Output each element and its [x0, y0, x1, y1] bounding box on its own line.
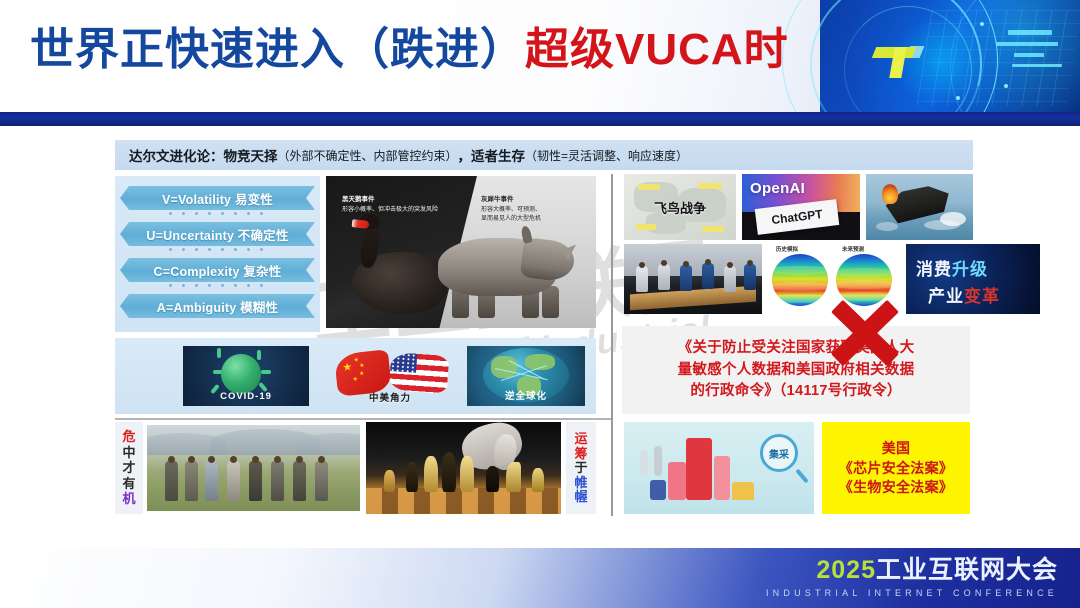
crisis-opportunity-panel: 危 中 才 有 机 [115, 422, 360, 514]
darwin-lead: 达尔文进化论： [129, 145, 224, 165]
vuca-chip-label: C=Complexity 复杂性 [120, 258, 315, 282]
right-image-grid-row-2: 历史模拟 未来预测 消费升级 产业变革 [624, 244, 973, 314]
china-us-label: 中美角力 [330, 390, 450, 404]
consume-line1-plain: 消费 [916, 260, 952, 279]
burning-ship-photo [866, 174, 973, 240]
hope-char-3: 才 [122, 461, 135, 475]
column-divider [611, 174, 613, 516]
openai-chatgpt-image: OpenAI ChatGPT [742, 174, 860, 240]
vuca-row-volatility: V=Volatility 易变性 [120, 186, 315, 216]
strategy-char-2: 筹 [574, 447, 587, 461]
footer-year: 2025 [816, 556, 876, 584]
climate-caption-right: 未来预测 [842, 245, 864, 253]
left-row-divider [115, 418, 612, 420]
red-cross-mark-icon [828, 296, 902, 370]
grey-rhino-caption: 灰犀牛事件形容大概率、可预测、 显而易见人的大型危机 [481, 186, 541, 223]
vuca-dot-connector [164, 247, 272, 252]
procurement-magnifier-icon: 集采 [760, 434, 798, 472]
strategy-char-5: 幄 [574, 490, 587, 504]
darwin-term-1: 物竞天择 [224, 145, 278, 165]
grey-rhino-heading: 灰犀牛事件 [481, 195, 541, 204]
deglobalization-card: 逆全球化 [467, 346, 585, 406]
darwin-theory-banner: 达尔文进化论：物竞天择（外部不确定性、内部管控约束），适者生存（韧性=灵活调整、… [115, 140, 973, 170]
executive-order-callout: 《关于防止受关注国家获取美国人大 量敏感个人数据和美国政府相关数据 的行政命令》… [622, 326, 970, 414]
strategy-vertical-text: 运 筹 于 帷 幄 [566, 422, 596, 514]
hope-char-2: 中 [122, 446, 135, 460]
footer-name-cn: 工业互联网大会 [876, 556, 1058, 584]
clean-room-lab-photo [624, 244, 762, 314]
consume-line-2: 产业变革 [928, 282, 1000, 307]
grey-rhino-body: 形容大概率、可预测、 显而易见人的大型危机 [481, 207, 541, 222]
conference-t-logo [872, 40, 928, 82]
order-line-3: 的行政命令》（14117号行政令） [690, 383, 901, 400]
covid-label: COVID-19 [183, 391, 309, 402]
strategy-char-1: 运 [574, 432, 587, 446]
hope-char-1: 危 [122, 430, 135, 444]
darwin-term-2: 适者生存 [471, 145, 525, 165]
covid-card: COVID-19 [183, 346, 309, 406]
bird-war-map-image: 飞鸟战争 [624, 174, 736, 240]
page-title-red: 超级VUCA时 [525, 25, 789, 74]
deglobalization-label: 逆全球化 [467, 388, 585, 402]
vuca-definitions-panel: V=Volatility 易变性 U=Uncertainty 不确定性 C=Co… [115, 176, 320, 332]
consume-line2-plain: 产业 [928, 287, 964, 306]
climate-globe-left [772, 254, 828, 306]
header-divider-bar [0, 112, 1080, 126]
vuca-row-ambiguity: A=Ambiguity 模糊性 [120, 294, 315, 324]
consumption-upgrade-image: 消费升级 产业变革 [906, 244, 1040, 314]
covid-globe-icon [221, 354, 261, 394]
black-swan-grey-rhino-image: 黑天鹅事件形容小概率、但冲击极大的突发风险 灰犀牛事件形容大概率、可预测、 显而… [326, 176, 596, 328]
page-title: 世界正快速进入（跌进）超级VUCA时 [30, 26, 789, 74]
consume-line1-accent: 升级 [952, 260, 988, 279]
strategy-char-3: 于 [574, 461, 587, 475]
vuca-chip-label: U=Uncertainty 不确定性 [120, 222, 315, 246]
conference-footer-logo: 2025工业互联网大会 INDUSTRIAL INTERNET CONFEREN… [766, 557, 1058, 598]
vuca-row-uncertainty: U=Uncertainty 不确定性 [120, 222, 315, 252]
vuca-dot-connector [164, 211, 272, 216]
consume-line-1: 消费升级 [916, 255, 988, 280]
black-swan-beak-shape [352, 219, 370, 229]
right-image-grid-row-1: 飞鸟战争 OpenAI ChatGPT [624, 174, 973, 240]
law-line-2: 《芯片安全法案》 [839, 460, 953, 477]
black-swan-body: 形容小概率、但冲击极大的突发风险 [342, 207, 438, 213]
darwin-note-2: （韧性=灵活调整、响应速度） [525, 147, 688, 164]
china-us-rivalry-card: ★ ★ ★ ★ ★ 中美角力 [330, 346, 450, 408]
hope-char-5: 机 [122, 492, 135, 506]
vuca-chip-label: A=Ambiguity 模糊性 [120, 294, 315, 318]
chess-game-photo [366, 422, 561, 514]
darwin-separator: ， [458, 145, 472, 165]
usa-flag-icon [389, 352, 450, 394]
long-march-soldiers-photo [147, 425, 360, 511]
bird-war-title: 飞鸟战争 [624, 198, 736, 217]
openai-wordmark: OpenAI [750, 180, 805, 197]
hope-char-4: 有 [122, 477, 135, 491]
slide-header: 世界正快速进入（跌进）超级VUCA时 [0, 0, 1080, 112]
tech-globe-graphic [820, 0, 1080, 112]
vuca-row-complexity: C=Complexity 复杂性 [120, 258, 315, 288]
slide-footer: 2025工业互联网大会 INDUSTRIAL INTERNET CONFEREN… [0, 548, 1080, 608]
strategy-char-4: 帷 [574, 476, 587, 490]
black-swan-heading: 黑天鹅事件 [342, 195, 438, 204]
us-security-acts-callout: 美国 《芯片安全法案》 《生物安全法案》 [822, 422, 970, 514]
law-line-1: 美国 [882, 440, 911, 457]
darwin-note-1: （外部不确定性、内部管控约束） [278, 147, 458, 164]
slide-body: 工业互联网 Alliance of Industrial 达尔文进化论：物竞天择… [0, 126, 1080, 608]
consume-line2-accent: 变革 [964, 287, 1000, 306]
black-swan-caption: 黑天鹅事件形容小概率、但冲击极大的突发风险 [342, 186, 438, 215]
pharma-procurement-illustration: 集采 [624, 422, 814, 514]
page-title-blue: 世界正快速进入（跌进） [30, 25, 525, 74]
law-line-3: 《生物安全法案》 [839, 479, 953, 496]
footer-name-en: INDUSTRIAL INTERNET CONFERENCE [766, 588, 1058, 598]
footer-logo-main: 2025工业互联网大会 [766, 557, 1058, 585]
vuca-dot-connector [164, 283, 272, 288]
vuca-chip-label: V=Volatility 易变性 [120, 186, 315, 210]
crisis-opportunity-vertical-text: 危 中 才 有 机 [115, 422, 143, 514]
climate-caption-left: 历史模拟 [776, 245, 798, 253]
global-crisis-band: COVID-19 ★ ★ ★ ★ ★ 中美角力 [115, 338, 596, 414]
